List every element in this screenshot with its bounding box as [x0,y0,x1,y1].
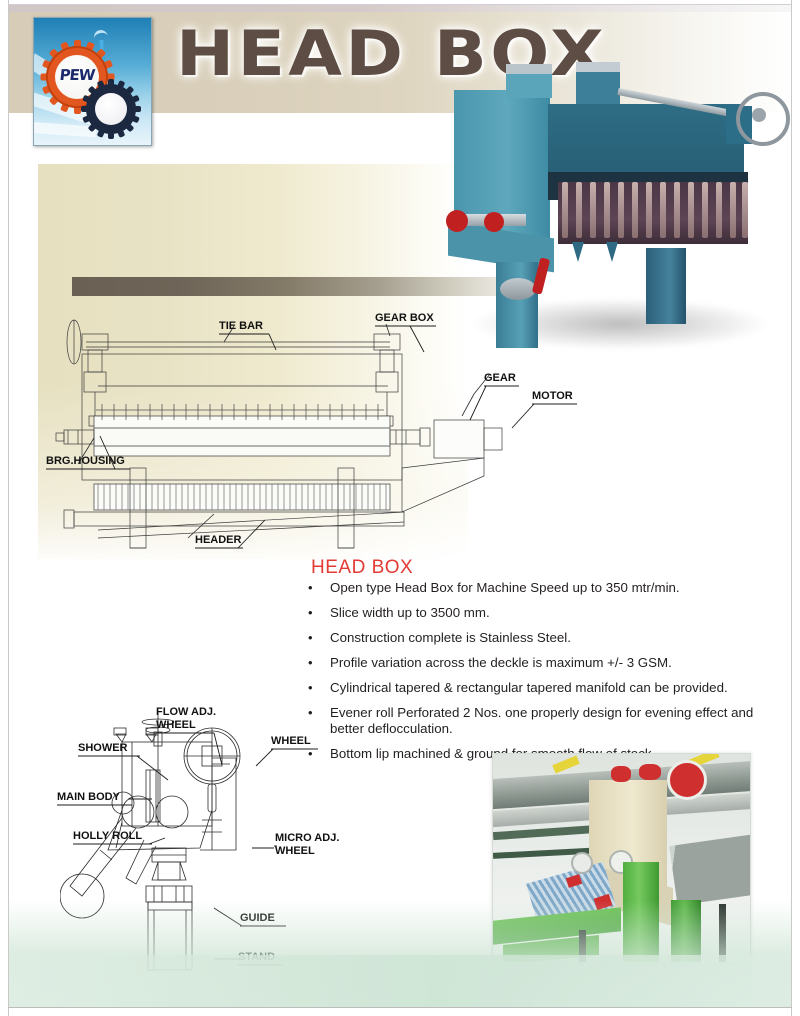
label-gear-box: GEAR BOX [375,312,434,325]
section-heading: HEAD BOX [311,557,413,579]
list-item: • Open type Head Box for Machine Speed u… [300,580,778,596]
bullet-icon: • [308,655,313,671]
pew-logo: PEW [33,17,152,146]
manifold-rail [669,834,751,905]
page-bottom-wash-2 [9,955,791,1007]
machine-nozzle-2 [606,242,618,262]
list-item-text: Profile variation across the deckle is m… [330,655,672,670]
red-handwheel-icon [667,760,707,800]
list-item: • Evener roll Perforated 2 Nos. one prop… [300,705,778,737]
label-main-body: MAIN BODY [57,791,120,804]
machine-handwheel-hub [752,108,766,122]
label-gear: GEAR [484,372,516,385]
machine-cap-right [576,62,620,72]
bullet-icon: • [308,630,313,646]
label-brg-housing: BRG.HOUSING [46,455,125,468]
page-border-left [8,0,9,1016]
machine-bearing-hub [500,278,536,300]
page-border-bottom [8,1007,792,1008]
header-band-highlight [9,5,791,12]
machine-red-valve-1 [446,210,468,232]
machine-cap-left [506,64,552,74]
list-item: • Cylindrical tapered & rectangular tape… [300,680,778,696]
list-item-text: Construction complete is Stainless Steel… [330,630,571,645]
bullet-icon: • [308,680,313,696]
bullet-icon: • [308,605,313,621]
list-item: • Profile variation across the deckle is… [300,655,778,671]
bullet-icon: • [308,580,313,596]
list-item-text: Evener roll Perforated 2 Nos. one proper… [330,705,753,736]
red-valve-1 [611,766,631,782]
bullet-icon: • [308,746,313,762]
label-tie-bar: TIE BAR [219,320,263,333]
label-flow-adj-wheel: FLOW ADJ. WHEEL [156,706,216,732]
headbox-elevation-drawing [38,316,508,556]
label-micro-adj-wheel: MICRO ADJ. WHEEL [275,832,339,858]
label-header: HEADER [195,534,241,547]
machine-leg-right [646,248,686,324]
decorative-gradient-bar [72,277,500,296]
list-item: • Slice width up to 3500 mm. [300,605,778,621]
machine-nozzle-1 [572,242,584,262]
logo-brand-text: PEW [55,66,99,84]
machine-pin-row [560,182,748,242]
page-border-right [791,0,792,1016]
list-item-text: Cylindrical tapered & rectangular tapere… [330,680,728,695]
machine-main-body [548,104,744,176]
list-item-text: Open type Head Box for Machine Speed up … [330,580,680,595]
label-motor: MOTOR [532,390,573,403]
brochure-page: HEAD BOX PEW [0,0,800,1016]
bullet-icon: • [308,705,313,721]
spec-list: • Open type Head Box for Machine Speed u… [300,580,778,771]
red-valve-2 [639,764,661,780]
pressure-gauge-2 [571,852,593,874]
machine-red-valve-2 [484,212,504,232]
machine-top-block-left [506,72,552,98]
label-shower: SHOWER [78,742,128,755]
list-item-text: Slice width up to 3500 mm. [330,605,490,620]
logo-tower-top-icon [93,29,110,47]
list-item: • Construction complete is Stainless Ste… [300,630,778,646]
label-holly-roll: HOLLY ROLL [73,830,142,843]
blue-gear-hub [95,93,127,125]
machine-top-block-right [576,70,620,104]
